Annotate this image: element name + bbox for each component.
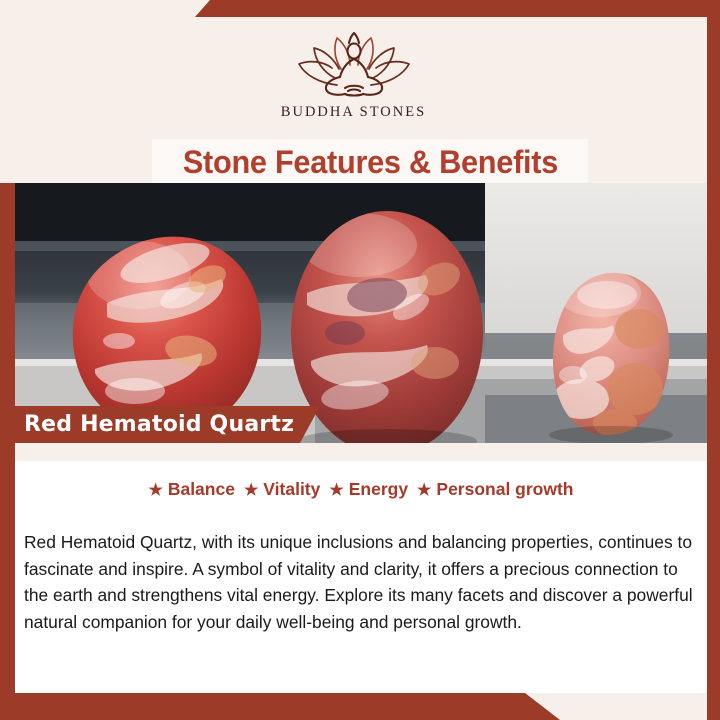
benefit-item: ★ Balance [148, 479, 234, 500]
benefit-label: Personal growth [436, 479, 573, 500]
star-icon: ★ [148, 483, 162, 499]
star-icon: ★ [244, 483, 258, 499]
product-feature-poster: BUDDHA STONES Stone Features & Benefits [0, 0, 720, 720]
title-band: Stone Features & Benefits [152, 139, 588, 186]
top-accent-band [195, 0, 720, 17]
right-accent-band [707, 0, 720, 720]
star-icon: ★ [329, 483, 343, 499]
star-icon: ★ [417, 483, 431, 499]
lotus-meditation-icon [279, 31, 429, 101]
product-name-banner: Red Hematoid Quartz [0, 406, 320, 443]
benefit-label: Energy [349, 479, 408, 500]
product-description: Red Hematoid Quartz, with its unique inc… [24, 529, 698, 635]
page-title: Stone Features & Benefits [182, 144, 557, 181]
benefits-list: ★ Balance ★ Vitality ★ Energy ★ Personal… [15, 479, 707, 500]
product-photo [15, 183, 707, 443]
product-name: Red Hematoid Quartz [24, 412, 294, 437]
body-top-strip [15, 443, 707, 461]
poster-body: ★ Balance ★ Vitality ★ Energy ★ Personal… [15, 443, 707, 693]
poster-header: BUDDHA STONES Stone Features & Benefits [0, 17, 707, 183]
benefit-item: ★ Vitality [244, 479, 320, 500]
benefit-item: ★ Personal growth [417, 479, 573, 500]
stones-photo-illustration [15, 183, 707, 443]
brand-name: BUDDHA STONES [281, 104, 426, 121]
benefit-label: Balance [168, 479, 235, 500]
brand-logo: BUDDHA STONES [0, 31, 707, 121]
bottom-accent-band [0, 693, 560, 720]
benefit-item: ★ Energy [329, 479, 408, 500]
benefit-label: Vitality [263, 479, 320, 500]
